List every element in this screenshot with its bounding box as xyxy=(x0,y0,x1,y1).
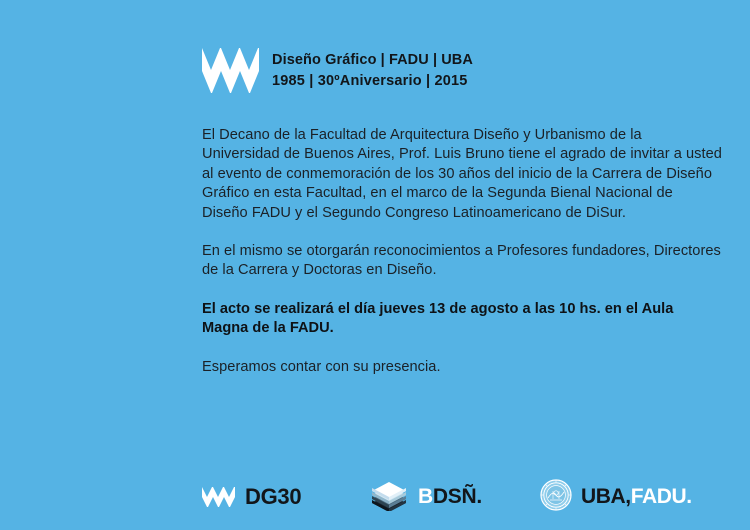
footer-logo-bdsn[interactable]: BDSÑ. xyxy=(368,480,482,514)
header-title-line1: Diseño Gráfico | FADU | UBA xyxy=(272,50,473,71)
bdsn-stacked-slabs-icon xyxy=(368,479,410,516)
body-paragraph-event-details: El acto se realizará el día jueves 13 de… xyxy=(202,300,722,339)
footer-logo-dg30-label: DG30 xyxy=(245,484,301,510)
footer-logo-uba-fadu[interactable]: UBA,FADU. xyxy=(540,480,692,514)
footer-logo-bar: DG30 xyxy=(202,480,702,514)
footer-logo-bdsn-label-b: B xyxy=(418,485,433,508)
invitation-card: Diseño Gráfico | FADU | UBA 1985 | 30ºAn… xyxy=(0,0,750,530)
body-paragraph-closing: Esperamos contar con su presencia. xyxy=(202,358,722,377)
body-paragraph-1: El Decano de la Facultad de Arquitectura… xyxy=(202,126,722,223)
dg30-diamond-mark-icon xyxy=(202,487,235,507)
header: Diseño Gráfico | FADU | UBA 1985 | 30ºAn… xyxy=(202,48,473,93)
uba-circular-seal-icon xyxy=(540,479,572,516)
footer-logo-bdsn-label: BDSÑ. xyxy=(418,485,482,509)
header-title-block: Diseño Gráfico | FADU | UBA 1985 | 30ºAn… xyxy=(272,48,473,92)
header-title-line2: 1985 | 30ºAniversario | 2015 xyxy=(272,71,473,92)
footer-logo-fadu-label: FADU. xyxy=(631,485,692,508)
invitation-body: El Decano de la Facultad de Arquitectura… xyxy=(202,126,722,377)
footer-logo-uba-fadu-label: UBA,FADU. xyxy=(581,485,692,509)
footer-logo-dg30[interactable]: DG30 xyxy=(202,480,301,514)
dg30-diamond-mark-icon xyxy=(202,48,259,93)
footer-logo-bdsn-label-rest: DSÑ. xyxy=(433,485,482,508)
footer-logo-uba-label: UBA, xyxy=(581,485,631,508)
body-paragraph-2: En el mismo se otorgarán reconocimientos… xyxy=(202,242,722,281)
